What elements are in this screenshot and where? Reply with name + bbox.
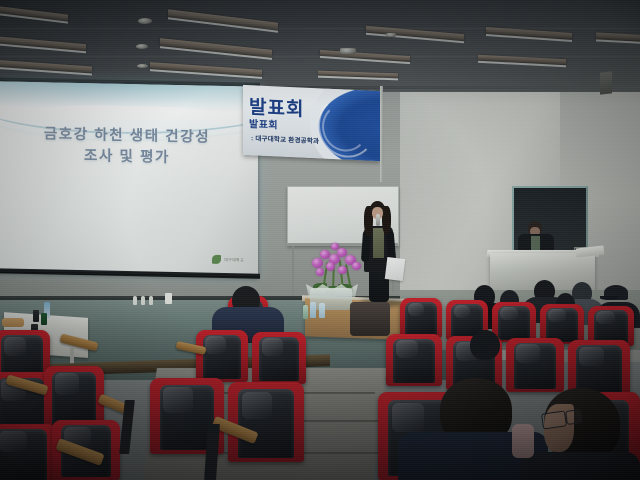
seat-highlight bbox=[392, 403, 424, 433]
beverage-can bbox=[41, 313, 47, 325]
seat-highlight bbox=[548, 309, 566, 323]
auditorium-seat[interactable] bbox=[228, 382, 304, 462]
auditorium-seat[interactable] bbox=[506, 338, 564, 392]
banner-organization: : 대구대학교 환경공학과 bbox=[251, 132, 319, 145]
attendee-collar bbox=[512, 424, 534, 458]
presenter-papers bbox=[385, 257, 406, 281]
banner-support-pole bbox=[380, 86, 383, 182]
event-banner: 발표회 발표회 : 대구대학교 환경공학과 bbox=[243, 85, 380, 161]
wall-speaker bbox=[600, 71, 612, 94]
seat-highlight bbox=[205, 336, 226, 354]
seat-highlight bbox=[579, 347, 604, 366]
cap-brim bbox=[600, 296, 618, 300]
leaf-icon bbox=[212, 255, 221, 264]
ceiling-vent bbox=[340, 48, 356, 54]
banner-subhead: 발표회 bbox=[249, 115, 278, 131]
wall-switch[interactable] bbox=[165, 293, 172, 304]
slide-title: 금호강 하천 생태 건강성 조사 및 평가 bbox=[0, 123, 258, 170]
flower-pot bbox=[310, 288, 352, 310]
water-bottle bbox=[310, 302, 316, 318]
auditorium-seat[interactable] bbox=[400, 298, 442, 338]
ceiling-dome-light bbox=[136, 44, 148, 49]
eyeglasses-icon bbox=[541, 410, 567, 429]
ceiling-dome-light bbox=[137, 64, 148, 68]
whiteboard-leg-left bbox=[292, 246, 294, 296]
attendee-head bbox=[470, 330, 500, 360]
water-bottle bbox=[319, 303, 325, 318]
seat-highlight bbox=[242, 392, 272, 419]
auditorium-seat[interactable] bbox=[386, 334, 442, 386]
ceiling-dome-light bbox=[138, 18, 152, 24]
presenter-blouse bbox=[373, 228, 384, 258]
seat-highlight bbox=[596, 311, 614, 325]
microphone-icon bbox=[376, 214, 380, 226]
auditorium-seat[interactable] bbox=[252, 332, 306, 384]
orchid-bloom bbox=[326, 262, 335, 271]
attendee-shoulders bbox=[520, 452, 640, 480]
seat-highlight bbox=[55, 373, 79, 394]
seat-highlight bbox=[0, 431, 27, 451]
floor-item bbox=[141, 296, 145, 305]
seat-highlight bbox=[500, 307, 518, 321]
orchid-bloom bbox=[316, 268, 324, 276]
snack-tray bbox=[2, 318, 24, 327]
seat-highlight bbox=[408, 303, 425, 317]
floor-item bbox=[133, 296, 137, 305]
ceiling-vent bbox=[386, 33, 396, 37]
recessed-fluorescent-light bbox=[596, 32, 640, 42]
seat-highlight bbox=[262, 338, 284, 356]
auditorium-seat[interactable] bbox=[0, 424, 56, 480]
seat-highlight bbox=[396, 340, 418, 358]
auditorium-seat[interactable] bbox=[44, 366, 104, 428]
floor-item bbox=[149, 296, 153, 305]
lecture-hall-photo: 금호강 하천 생태 건강성 조사 및 평가 대구대학교 발표회 발표회 : 대구… bbox=[0, 0, 640, 480]
podium-operator-shirt bbox=[531, 236, 540, 250]
ceiling-panel-seam bbox=[0, 28, 640, 29]
orchid-bloom bbox=[312, 258, 323, 268]
slide-university-logo: 대구대학교 bbox=[212, 255, 244, 265]
projection-screen: 금호강 하천 생태 건강성 조사 및 평가 대구대학교 bbox=[0, 81, 258, 276]
orchid-bloom bbox=[352, 262, 361, 270]
auditorium-seat[interactable] bbox=[196, 330, 248, 382]
coat-draped bbox=[350, 302, 390, 336]
ceiling bbox=[0, 0, 640, 92]
orchid-bloom bbox=[331, 243, 339, 250]
ceiling-panel-seam bbox=[0, 56, 640, 57]
seat-highlight bbox=[163, 387, 193, 413]
eyeglasses-icon bbox=[565, 409, 583, 425]
beverage-can bbox=[33, 310, 39, 322]
orchid-bloom bbox=[338, 266, 347, 274]
seat-highlight bbox=[454, 305, 471, 319]
seat-highlight bbox=[4, 337, 26, 356]
slide-logo-text: 대구대학교 bbox=[224, 257, 244, 263]
seat-highlight bbox=[516, 344, 539, 362]
water-bottle bbox=[303, 305, 308, 319]
